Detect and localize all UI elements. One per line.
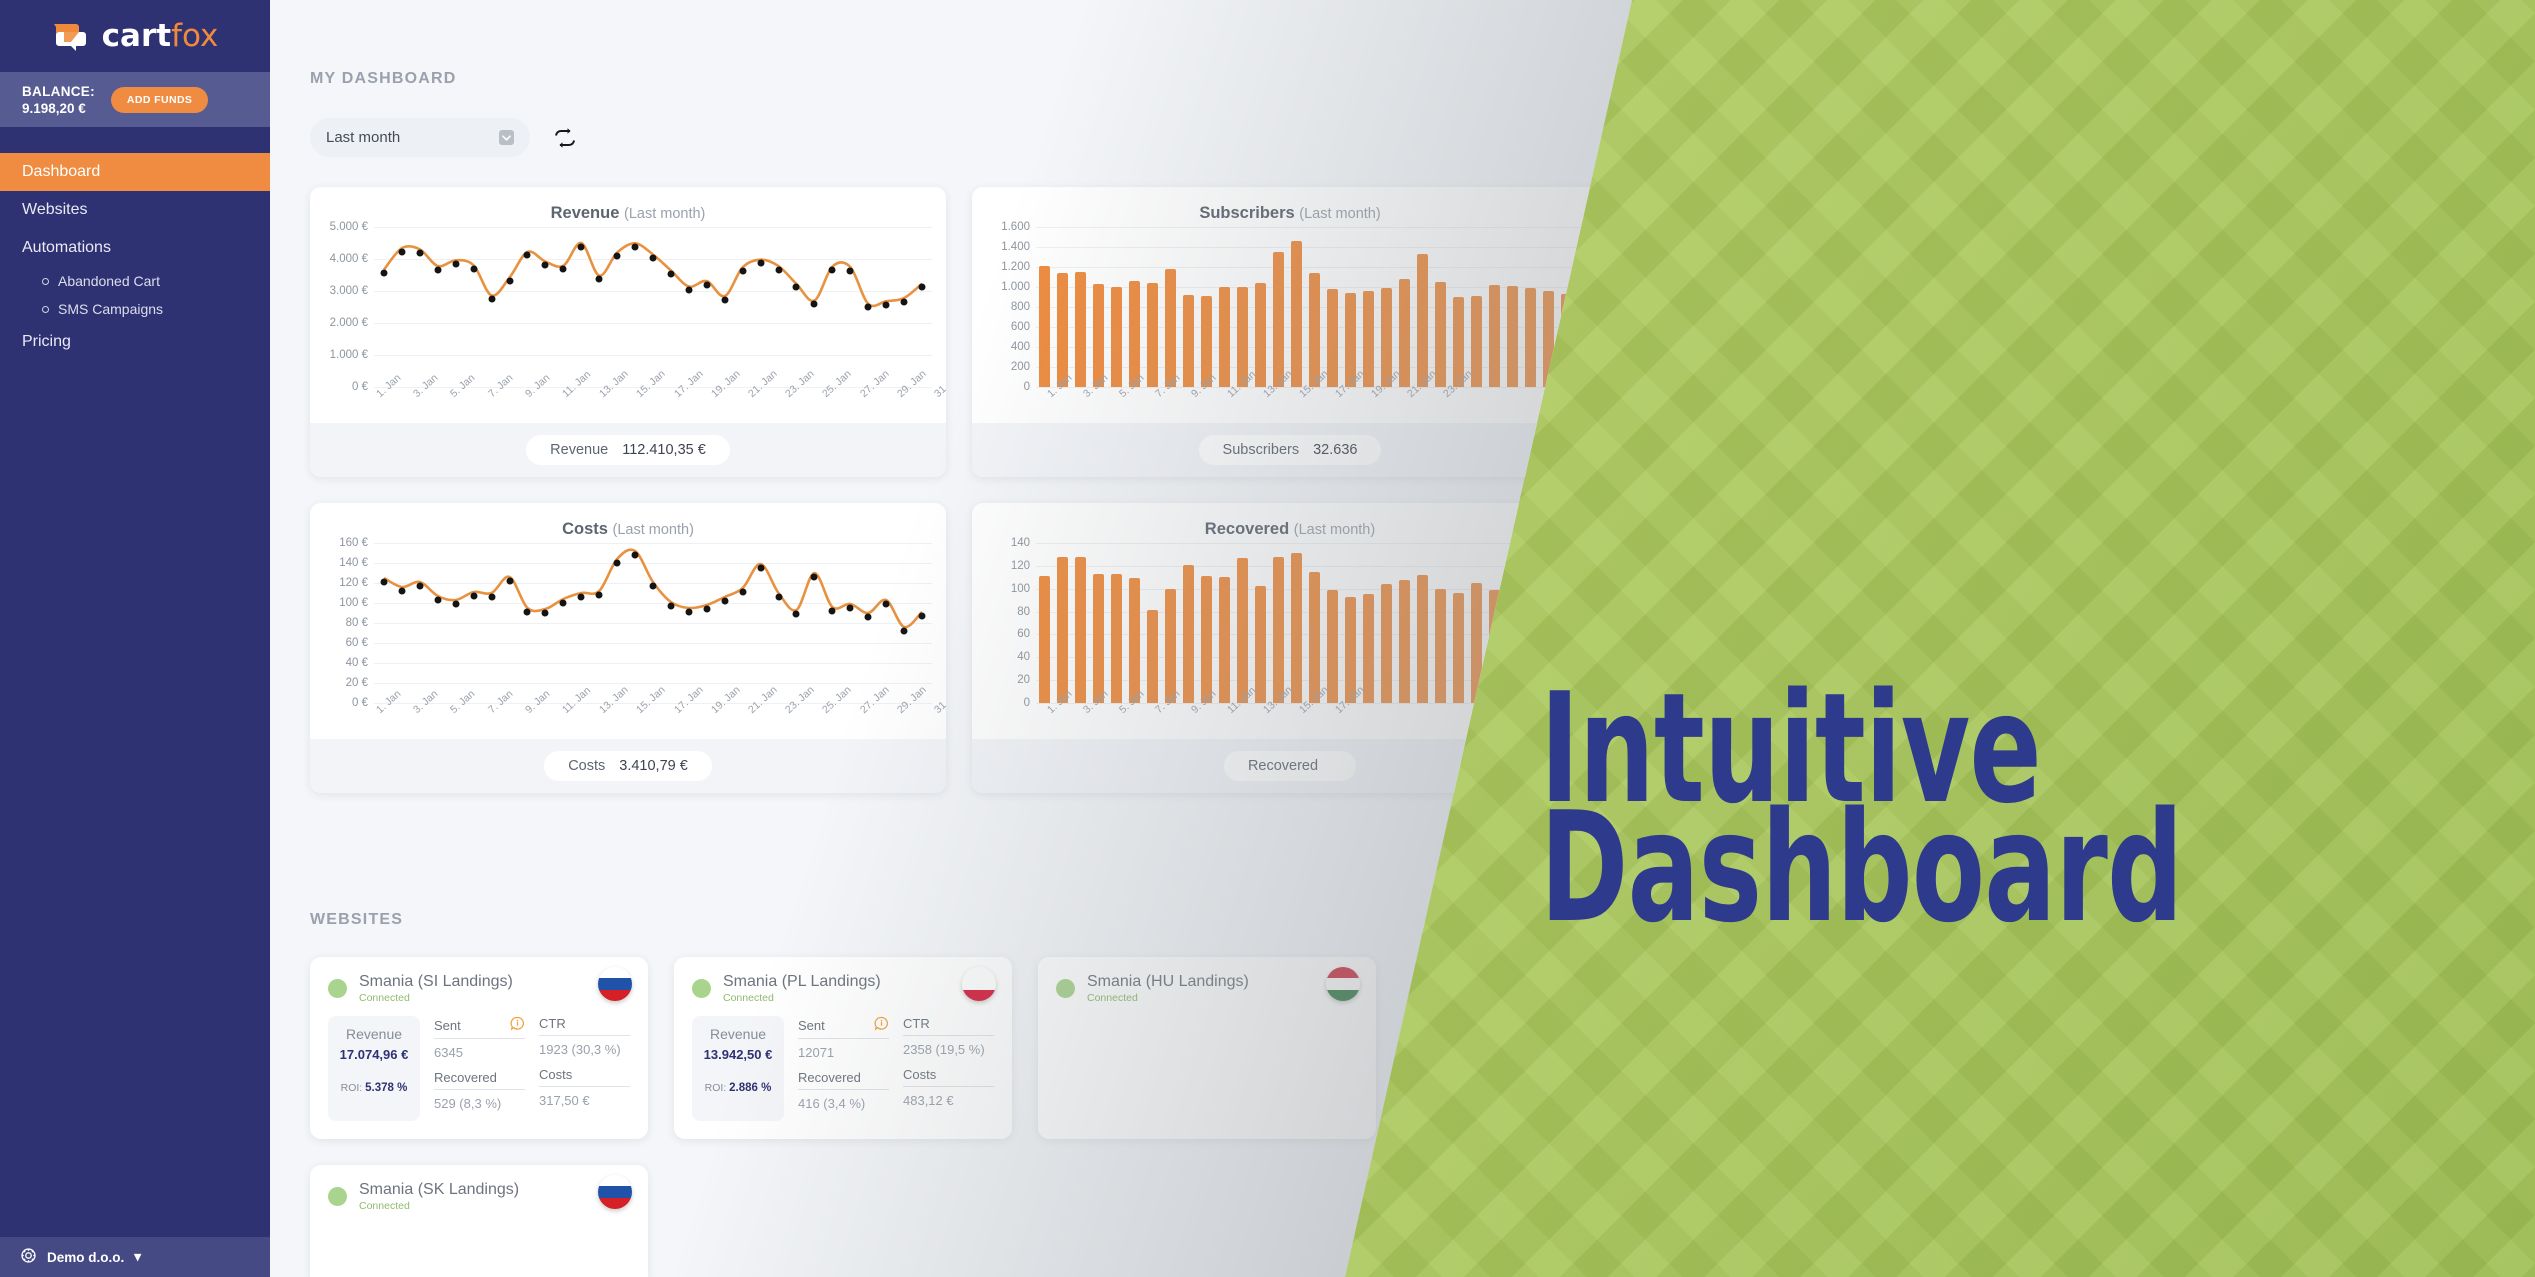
y-tick-label: 200 — [1011, 361, 1030, 373]
bar — [1255, 283, 1266, 388]
sidebar-item-automations[interactable]: Automations — [0, 229, 270, 267]
chart-card-revenue: Revenue (Last month) 0 €1.000 €2.000 €3.… — [310, 187, 946, 477]
metric-value: 529 (8,3 %) — [434, 1090, 525, 1121]
bar — [1111, 574, 1122, 703]
date-range-value: Last month — [326, 129, 400, 146]
data-point — [434, 596, 441, 603]
metric-column: Sent12071Recovered416 (3,4 %) — [798, 1016, 889, 1121]
bar — [1147, 283, 1158, 388]
revenue-label: Revenue — [700, 1026, 776, 1042]
chevron-down-icon — [499, 130, 514, 145]
bar — [1201, 576, 1212, 703]
website-name: Smania (SI Landings) — [359, 973, 513, 991]
footer-value: 112.410,35 € — [622, 442, 706, 458]
y-tick-label: 140 € — [339, 557, 368, 569]
data-point — [757, 564, 764, 571]
website-card[interactable]: Smania (HU Landings)Connected — [1038, 957, 1376, 1139]
data-point — [883, 600, 890, 607]
bar — [1489, 285, 1500, 387]
websites-section-title: WEBSITES — [310, 911, 1620, 929]
x-tick-label: 31. Jan — [932, 368, 946, 400]
y-tick-label: 2.000 € — [330, 317, 368, 329]
footer-label: Revenue — [550, 442, 608, 458]
data-point — [614, 559, 621, 566]
data-point — [883, 301, 890, 308]
y-tick-label: 120 € — [339, 577, 368, 589]
revenue-box: Revenue17.074,96 €ROI: 5.378 % — [328, 1016, 420, 1121]
website-name: Smania (HU Landings) — [1087, 973, 1249, 991]
data-point — [632, 243, 639, 250]
data-point — [470, 265, 477, 272]
data-point — [596, 276, 603, 283]
footer-value: 32.636 — [1313, 442, 1357, 458]
bar — [1327, 590, 1338, 703]
charts-grid: Revenue (Last month) 0 €1.000 €2.000 €3.… — [310, 187, 1620, 793]
data-point — [721, 597, 728, 604]
data-point — [757, 260, 764, 267]
country-flag-icon — [598, 1175, 632, 1209]
website-card-header: Smania (SK Landings)Connected — [328, 1181, 630, 1212]
metric-label: Sent — [798, 1016, 889, 1039]
gear-avatar-icon — [20, 1247, 37, 1267]
data-point — [380, 578, 387, 585]
data-point — [865, 613, 872, 620]
bar — [1093, 574, 1104, 703]
revenue-box: Revenue13.942,50 €ROI: 2.886 % — [692, 1016, 784, 1121]
status-dot-icon — [328, 1187, 347, 1206]
y-tick-label: 5.000 € — [330, 221, 368, 233]
data-point — [919, 284, 926, 291]
footer-label: Recovered — [1248, 758, 1318, 774]
data-point — [398, 587, 405, 594]
gridline — [1036, 267, 1594, 268]
status-badge: Connected — [723, 992, 881, 1004]
data-point — [739, 267, 746, 274]
bar — [1273, 252, 1284, 387]
website-card[interactable]: Smania (SK Landings)Connected — [310, 1165, 648, 1277]
y-tick-label: 4.000 € — [330, 253, 368, 265]
footer-value: 3.410,79 € — [619, 758, 688, 774]
bullet-icon — [42, 306, 49, 313]
status-badge: Connected — [1087, 992, 1249, 1004]
website-metrics: Revenue17.074,96 €ROI: 5.378 %Sent6345Re… — [328, 1016, 630, 1121]
roi-value: ROI: 5.378 % — [336, 1082, 412, 1094]
website-metrics: Revenue13.942,50 €ROI: 2.886 %Sent12071R… — [692, 1016, 994, 1121]
footer-label: Subscribers — [1223, 442, 1300, 458]
website-name: Smania (SK Landings) — [359, 1181, 519, 1199]
status-dot-icon — [692, 979, 711, 998]
metric-value: 12071 — [798, 1039, 889, 1070]
metric-value: 483,12 € — [903, 1087, 994, 1118]
y-tick-label: 80 — [1017, 606, 1030, 618]
bar — [1183, 565, 1194, 703]
brand-wordmark: cartfox — [102, 18, 219, 54]
cart-chat-logo-icon — [52, 22, 92, 51]
promo-headline: IntuitiveDashboard — [1540, 690, 2212, 927]
sidebar-sub-label: SMS Campaigns — [58, 301, 163, 317]
y-axis: 02004006008001.0001.2001.4001.600 — [972, 227, 1036, 387]
data-point — [560, 266, 567, 273]
sidebar-item-abandoned-cart[interactable]: Abandoned Cart — [0, 267, 270, 295]
metric-value: 6345 — [434, 1039, 525, 1070]
data-point — [560, 599, 567, 606]
metric-label: Costs — [539, 1067, 630, 1087]
metric-value: 317,50 € — [539, 1087, 630, 1118]
y-tick-label: 40 € — [346, 657, 368, 669]
balance-panel: BALANCE: 9.198,20 € ADD FUNDS — [0, 72, 270, 127]
gridline — [1036, 247, 1594, 248]
y-tick-label: 100 € — [339, 597, 368, 609]
data-point — [901, 627, 908, 634]
y-tick-label: 120 — [1011, 560, 1030, 572]
bar — [1039, 266, 1050, 388]
bar — [1237, 558, 1248, 703]
y-tick-label: 160 € — [339, 537, 368, 549]
bar — [1291, 241, 1302, 387]
y-tick-label: 800 — [1011, 301, 1030, 313]
chart-card-costs: Costs (Last month) 0 €20 €40 €60 €80 €10… — [310, 503, 946, 793]
data-point — [847, 267, 854, 274]
chart-title-revenue: Revenue (Last month) — [310, 187, 946, 227]
sidebar-nav: Dashboard Websites Automations Abandoned… — [0, 153, 270, 361]
chart-title-subscribers: Subscribers (Last month) — [972, 187, 1608, 227]
screenshot-root: IntuitiveDashboard cartfox BALANCE: 9.19… — [0, 0, 2535, 1277]
bar — [1219, 577, 1230, 703]
data-point — [506, 278, 513, 285]
plot-area — [374, 543, 932, 703]
data-point — [721, 296, 728, 303]
y-tick-label: 80 € — [346, 617, 368, 629]
bar — [1525, 288, 1536, 387]
bar — [1417, 575, 1428, 703]
data-point — [793, 284, 800, 291]
y-axis: 0 €1.000 €2.000 €3.000 €4.000 €5.000 € — [310, 227, 374, 387]
data-point — [865, 304, 872, 311]
data-point — [775, 593, 782, 600]
data-point — [596, 591, 603, 598]
dashboard-toolbar: Last month — [310, 118, 1620, 157]
promo-line-2: Dashboard — [1540, 779, 2183, 956]
bar — [1453, 593, 1464, 703]
data-point — [829, 607, 836, 614]
sidebar-item-websites[interactable]: Websites — [0, 191, 270, 229]
website-card-header: Smania (PL Landings)Connected — [692, 973, 994, 1004]
data-point — [542, 262, 549, 269]
metric-value: 2358 (19,5 %) — [903, 1036, 994, 1067]
sidebar-item-dashboard[interactable]: Dashboard — [0, 153, 270, 191]
y-tick-label: 40 — [1017, 651, 1030, 663]
sidebar-item-sms-campaigns[interactable]: SMS Campaigns — [0, 295, 270, 323]
data-point — [829, 267, 836, 274]
revenue-value: 13.942,50 € — [700, 1047, 776, 1062]
status-badge: Connected — [359, 992, 513, 1004]
metric-label: Recovered — [798, 1070, 889, 1090]
y-tick-label: 60 € — [346, 637, 368, 649]
info-bubble-icon[interactable] — [510, 1016, 525, 1034]
chart-plot-subscribers: 02004006008001.0001.2001.4001.6001. Jan3… — [972, 227, 1608, 423]
data-point — [452, 600, 459, 607]
country-flag-icon — [1326, 967, 1360, 1001]
bar — [1219, 287, 1230, 387]
data-point — [398, 248, 405, 255]
data-point — [811, 301, 818, 308]
bar — [1183, 295, 1194, 388]
data-point — [578, 593, 585, 600]
refresh-loop-icon[interactable] — [552, 127, 578, 149]
data-point — [524, 252, 531, 259]
brand-logo[interactable]: cartfox — [0, 0, 270, 72]
y-axis: 0 €20 €40 €60 €80 €100 €120 €140 €160 € — [310, 543, 374, 703]
metric-label: CTR — [539, 1016, 630, 1036]
country-flag-icon — [962, 967, 996, 1001]
user-name: Demo d.o.o. — [47, 1250, 124, 1265]
metric-column: CTR1923 (30,3 %)Costs317,50 € — [539, 1016, 630, 1121]
data-point — [847, 604, 854, 611]
y-tick-label: 600 — [1011, 321, 1030, 333]
sidebar-sub-label: Abandoned Cart — [58, 273, 160, 289]
data-point — [793, 610, 800, 617]
bar — [1363, 291, 1374, 387]
data-point — [703, 281, 710, 288]
bullet-icon — [42, 278, 49, 285]
data-point — [811, 573, 818, 580]
data-point — [739, 588, 746, 595]
chevron-down-icon: ▾ — [134, 1249, 141, 1265]
data-point — [685, 608, 692, 615]
y-tick-label: 1.000 — [1001, 281, 1030, 293]
data-point — [524, 608, 531, 615]
data-point — [542, 609, 549, 616]
y-tick-label: 3.000 € — [330, 285, 368, 297]
data-point — [416, 249, 423, 256]
plot-area — [1036, 227, 1594, 387]
x-tick-label: 31. Jan — [932, 684, 946, 716]
data-point — [650, 582, 657, 589]
y-tick-label: 60 — [1017, 628, 1030, 640]
bar — [1255, 586, 1266, 703]
status-badge: Connected — [359, 1200, 519, 1212]
y-tick-label: 0 € — [352, 697, 368, 709]
data-point — [506, 577, 513, 584]
metric-label: Sent — [434, 1016, 525, 1039]
sidebar: cartfox BALANCE: 9.198,20 € ADD FUNDS Da… — [0, 0, 270, 1277]
metric-value: 1923 (30,3 %) — [539, 1036, 630, 1067]
roi-value: ROI: 2.886 % — [700, 1082, 776, 1094]
chart-plot-revenue: 0 €1.000 €2.000 €3.000 €4.000 €5.000 €1.… — [310, 227, 946, 423]
data-point — [614, 253, 621, 260]
line-series — [374, 227, 932, 387]
bar — [1381, 584, 1392, 703]
revenue-label: Revenue — [336, 1026, 412, 1042]
bar — [1039, 576, 1050, 703]
y-tick-label: 20 — [1017, 674, 1030, 686]
y-tick-label: 0 — [1024, 697, 1030, 709]
y-tick-label: 140 — [1011, 537, 1030, 549]
x-axis: 1. Jan3. Jan5. Jan7. Jan9. Jan11. Jan13.… — [1036, 391, 1594, 435]
bar — [1327, 289, 1338, 387]
bar — [1075, 557, 1086, 703]
info-bubble-icon[interactable] — [874, 1016, 889, 1034]
revenue-value: 17.074,96 € — [336, 1047, 412, 1062]
page-title: MY DASHBOARD — [310, 70, 1620, 88]
status-dot-icon — [1056, 979, 1075, 998]
website-card-header: Smania (SI Landings)Connected — [328, 973, 630, 1004]
data-point — [434, 266, 441, 273]
x-axis: 1. Jan3. Jan5. Jan7. Jan9. Jan11. Jan13.… — [374, 707, 932, 751]
add-funds-button[interactable]: ADD FUNDS — [111, 87, 208, 113]
data-point — [416, 582, 423, 589]
bar — [1363, 594, 1374, 703]
bar — [1273, 557, 1284, 703]
status-dot-icon — [328, 979, 347, 998]
bar — [1129, 578, 1140, 703]
bar — [1399, 580, 1410, 703]
data-point — [470, 592, 477, 599]
balance-label: BALANCE: — [22, 83, 95, 101]
y-tick-label: 20 € — [346, 677, 368, 689]
line-series — [374, 543, 932, 703]
data-point — [667, 602, 674, 609]
bar — [1417, 254, 1428, 387]
data-point — [632, 551, 639, 558]
country-flag-icon — [598, 967, 632, 1001]
balance-amount: 9.198,20 € — [22, 101, 95, 116]
bar — [1165, 589, 1176, 703]
metric-label: Costs — [903, 1067, 994, 1087]
date-range-select[interactable]: Last month — [310, 118, 530, 157]
metric-column: Sent6345Recovered529 (8,3 %) — [434, 1016, 525, 1121]
gridline — [1036, 227, 1594, 228]
y-tick-label: 400 — [1011, 341, 1030, 353]
website-card-header: Smania (HU Landings)Connected — [1056, 973, 1358, 1004]
bar — [1057, 557, 1068, 703]
metric-label: CTR — [903, 1016, 994, 1036]
data-point — [452, 260, 459, 267]
y-tick-label: 1.600 — [1001, 221, 1030, 233]
data-point — [775, 266, 782, 273]
data-point — [919, 612, 926, 619]
bar — [1111, 287, 1122, 387]
plot-area — [374, 227, 932, 387]
website-name: Smania (PL Landings) — [723, 973, 881, 991]
chart-plot-costs: 0 €20 €40 €60 €80 €100 €120 €140 €160 €1… — [310, 543, 946, 739]
bar — [1507, 286, 1518, 387]
website-card[interactable]: Smania (SI Landings)ConnectedRevenue17.0… — [310, 957, 648, 1139]
chart-title-costs: Costs (Last month) — [310, 503, 946, 543]
y-tick-label: 100 — [1011, 583, 1030, 595]
y-axis: 020406080100120140 — [972, 543, 1036, 703]
metric-value: 416 (3,4 %) — [798, 1090, 889, 1121]
y-tick-label: 0 € — [352, 381, 368, 393]
x-axis: 1. Jan3. Jan5. Jan7. Jan9. Jan11. Jan13.… — [374, 391, 932, 435]
data-point — [488, 295, 495, 302]
metric-label: Recovered — [434, 1070, 525, 1090]
data-point — [901, 298, 908, 305]
bar — [1309, 572, 1320, 703]
footer-label: Costs — [568, 758, 605, 774]
y-tick-label: 0 — [1024, 381, 1030, 393]
sidebar-item-pricing[interactable]: Pricing — [0, 323, 270, 361]
bar — [1435, 282, 1446, 387]
y-tick-label: 1.400 — [1001, 241, 1030, 253]
data-point — [380, 270, 387, 277]
bar — [1435, 589, 1446, 703]
bar — [1057, 273, 1068, 387]
data-point — [685, 287, 692, 294]
bar — [1399, 279, 1410, 387]
bar — [1165, 269, 1176, 387]
y-tick-label: 1.000 € — [330, 349, 368, 361]
bar — [1291, 553, 1302, 703]
bar — [1147, 610, 1158, 703]
bar — [1471, 296, 1482, 388]
metric-column: CTR2358 (19,5 %)Costs483,12 € — [903, 1016, 994, 1121]
bar — [1075, 272, 1086, 387]
data-point — [578, 243, 585, 250]
user-account-menu[interactable]: Demo d.o.o. ▾ — [0, 1237, 270, 1277]
data-point — [703, 605, 710, 612]
website-card[interactable]: Smania (PL Landings)ConnectedRevenue13.9… — [674, 957, 1012, 1139]
data-point — [488, 593, 495, 600]
data-point — [667, 271, 674, 278]
data-point — [650, 255, 657, 262]
y-tick-label: 1.200 — [1001, 261, 1030, 273]
chart-card-subscribers: Subscribers (Last month) 02004006008001.… — [972, 187, 1608, 477]
